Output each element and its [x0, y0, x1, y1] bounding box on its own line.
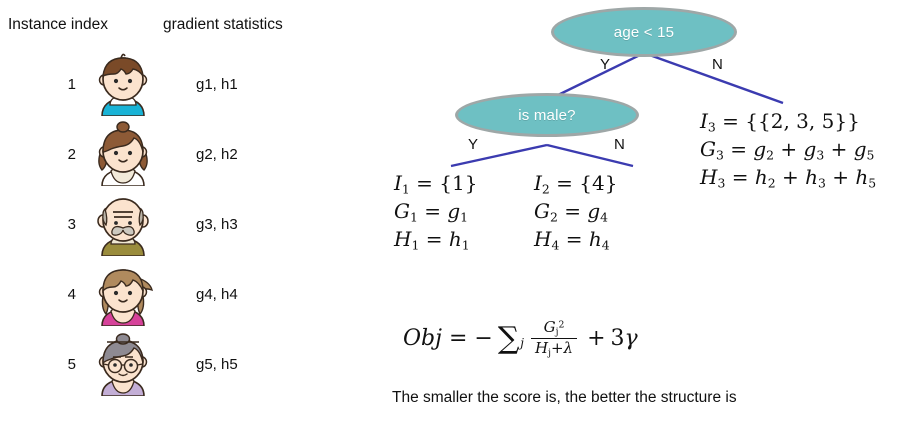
instance-index-value: 3	[40, 216, 76, 233]
tree-node-age[interactable]: age < 15	[551, 7, 737, 57]
gradient-statistics-value: g1, h1	[196, 76, 238, 93]
old-woman-avatar	[90, 330, 156, 396]
table-row: 5 g5, h5	[0, 328, 330, 398]
tree-node-is-male[interactable]: is male?	[455, 93, 639, 137]
objective-plus: +	[582, 326, 610, 351]
gamma-coefficient: 3	[611, 326, 625, 351]
gradient-statistics-value: g5, h5	[196, 356, 238, 373]
edge-label-is-male-no: N	[614, 136, 625, 153]
table-row: 1 g1, h1	[0, 48, 330, 118]
young-woman-avatar	[90, 260, 156, 326]
table-row: 3 g3, h3	[0, 188, 330, 258]
instance-index-value: 5	[40, 356, 76, 373]
leaf-left-G: G1 = g1	[394, 198, 477, 226]
leaf-middle-G: G2 = g4	[534, 198, 617, 226]
objective-formula: Obj = − ∑ j Gj2 Hj+λ + 3 γ	[403, 318, 638, 358]
tree-node-is-male-label: is male?	[518, 107, 575, 124]
tree-node-age-label: age < 15	[614, 24, 674, 41]
leaf-stats-left: I1 = {1} G1 = g1 H1 = h1	[394, 170, 477, 254]
gradient-statistics-value: g3, h3	[196, 216, 238, 233]
leaf-stats-right: I3 = {{2, 3, 5}} G3 = g2 + g3 + g5 H3 = …	[700, 108, 876, 192]
girl-avatar	[90, 120, 156, 186]
leaf-left-I: I1 = {1}	[394, 170, 477, 198]
edge-label-root-yes: Y	[600, 56, 610, 73]
gamma-symbol: γ	[625, 326, 638, 351]
objective-lhs: Obj	[403, 326, 442, 351]
boy-avatar	[90, 50, 156, 116]
gradient-statistics-value: g2, h2	[196, 146, 238, 163]
leaf-right-G: G3 = g2 + g3 + g5	[700, 136, 876, 164]
summation-symbol: ∑ j	[497, 325, 524, 352]
old-man-avatar	[90, 190, 156, 256]
table-row: 4 g4, h4	[0, 258, 330, 328]
instance-index-value: 2	[40, 146, 76, 163]
edge-label-root-no: N	[712, 56, 723, 73]
edge-ismale-yes	[451, 145, 547, 166]
column-header-gradient-statistics: gradient statistics	[163, 16, 283, 34]
instance-index-value: 1	[40, 76, 76, 93]
fraction-numerator: Gj2	[540, 318, 569, 338]
objective-equals: =	[442, 326, 474, 351]
objective-fraction: Gj2 Hj+λ	[531, 318, 577, 358]
caption-text: The smaller the score is, the better the…	[392, 389, 737, 407]
gradient-statistics-value: g4, h4	[196, 286, 238, 303]
leaf-middle-H: H4 = h4	[534, 226, 617, 254]
edge-label-is-male-yes: Y	[468, 136, 478, 153]
column-header-instance-index: Instance index	[8, 16, 108, 34]
table-row: 2 g2, h2	[0, 118, 330, 188]
fraction-denominator: Hj+λ	[531, 338, 577, 359]
instance-index-value: 4	[40, 286, 76, 303]
objective-minus: −	[474, 326, 492, 351]
leaf-stats-middle: I2 = {4} G2 = g4 H4 = h4	[534, 170, 617, 254]
leaf-left-H: H1 = h1	[394, 226, 477, 254]
leaf-right-H: H3 = h2 + h3 + h5	[700, 164, 876, 192]
leaf-right-I: I3 = {{2, 3, 5}}	[700, 108, 876, 136]
leaf-middle-I: I2 = {4}	[534, 170, 617, 198]
